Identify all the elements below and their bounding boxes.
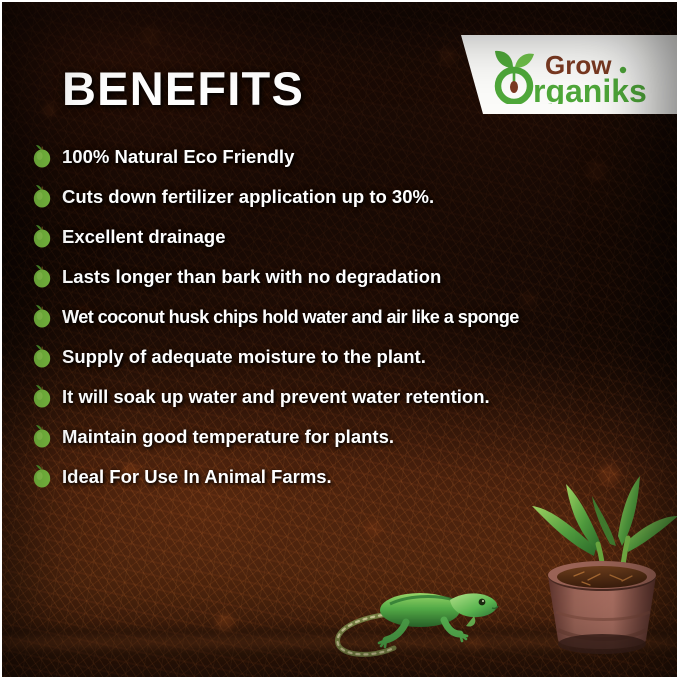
green-apple-icon [30, 143, 54, 169]
logo-word-organiks: rganiks [533, 73, 647, 104]
product-benefits-infographic: BENEFITS Grow rganiks [0, 0, 679, 679]
green-apple-icon [30, 303, 54, 329]
green-apple-icon [30, 343, 54, 369]
list-item-label: Ideal For Use In Animal Farms. [62, 466, 332, 488]
list-item: Maintain good temperature for plants. [30, 417, 660, 457]
list-item: Wet coconut husk chips hold water and ai… [30, 297, 660, 337]
page-title: BENEFITS [62, 61, 304, 116]
list-item: It will soak up water and prevent water … [30, 377, 660, 417]
grow-organiks-logo-mark: Grow rganiks [483, 46, 669, 104]
green-apple-icon [30, 223, 54, 249]
list-item: Ideal For Use In Animal Farms. [30, 457, 660, 497]
green-apple-icon [30, 423, 54, 449]
list-item-label: Lasts longer than bark with no degradati… [62, 266, 441, 288]
list-item: Supply of adequate moisture to the plant… [30, 337, 660, 377]
list-item: 100% Natural Eco Friendly [30, 137, 660, 177]
list-item-label: It will soak up water and prevent water … [62, 386, 490, 408]
benefits-list: 100% Natural Eco Friendly Cuts down fert… [30, 137, 660, 497]
list-item-label: Maintain good temperature for plants. [62, 426, 394, 448]
list-item-label: 100% Natural Eco Friendly [62, 146, 294, 168]
plant-pot-illustration [522, 472, 679, 662]
lizard-illustration [332, 560, 552, 660]
brand-logo-banner[interactable]: Grow rganiks [457, 35, 679, 114]
list-item-label: Wet coconut husk chips hold water and ai… [62, 307, 519, 328]
list-item-label: Excellent drainage [62, 226, 225, 248]
list-item: Excellent drainage [30, 217, 660, 257]
list-item-label: Supply of adequate moisture to the plant… [62, 346, 426, 368]
brand-logo: Grow rganiks [483, 46, 669, 104]
list-item: Lasts longer than bark with no degradati… [30, 257, 660, 297]
green-apple-icon [30, 263, 54, 289]
list-item-label: Cuts down fertilizer application up to 3… [62, 186, 434, 208]
list-item: Cuts down fertilizer application up to 3… [30, 177, 660, 217]
green-apple-icon [30, 183, 54, 209]
green-apple-icon [30, 463, 54, 489]
green-apple-icon [30, 383, 54, 409]
